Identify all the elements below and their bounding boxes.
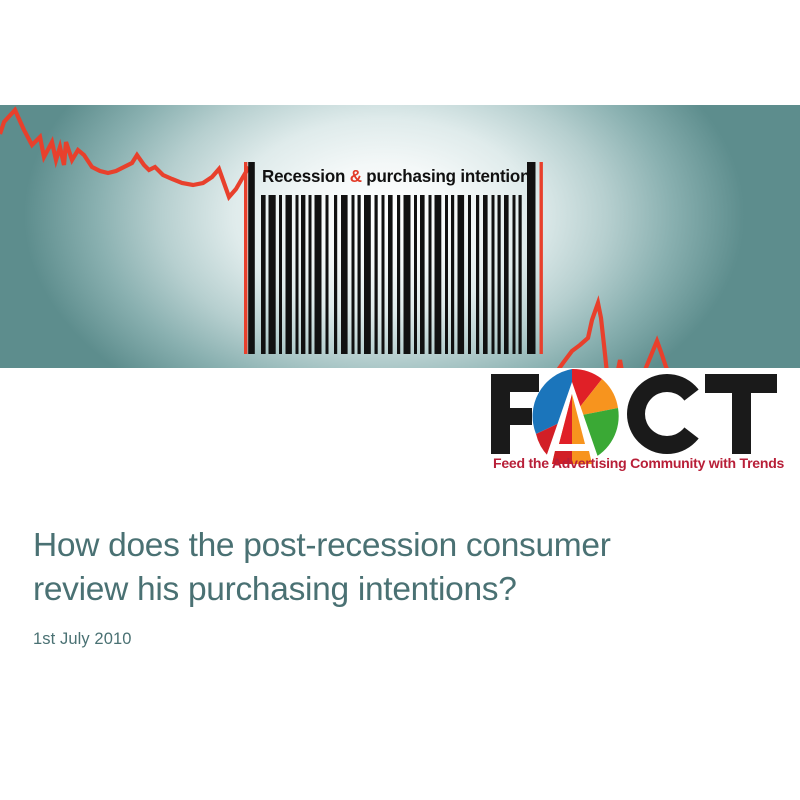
barcode-label-ampersand: &: [350, 166, 362, 186]
fact-tagline: Feed the Advertising Community with Tren…: [493, 456, 790, 472]
barcode-guard-right: [540, 162, 543, 354]
barcode-graphic: Recession & purchasing intention: [244, 162, 554, 354]
trend-line-left: [0, 110, 249, 197]
barcode-guard-left: [244, 162, 247, 354]
recession-banner: Recession & purchasing intention: [0, 105, 800, 368]
fact-logo: Feed the Advertising Community with Tren…: [489, 368, 794, 478]
page-title: How does the post-recession consumer rev…: [33, 524, 763, 612]
barcode-label: Recession & purchasing intention: [262, 162, 529, 191]
trend-line-right: [551, 303, 800, 368]
logo-letter-t: [705, 374, 777, 454]
page-date: 1st July 2010: [33, 630, 763, 649]
title-block: How does the post-recession consumer rev…: [33, 524, 763, 649]
barcode-label-prefix: Recession: [262, 166, 350, 186]
barcode-label-suffix: purchasing intention: [362, 166, 531, 186]
